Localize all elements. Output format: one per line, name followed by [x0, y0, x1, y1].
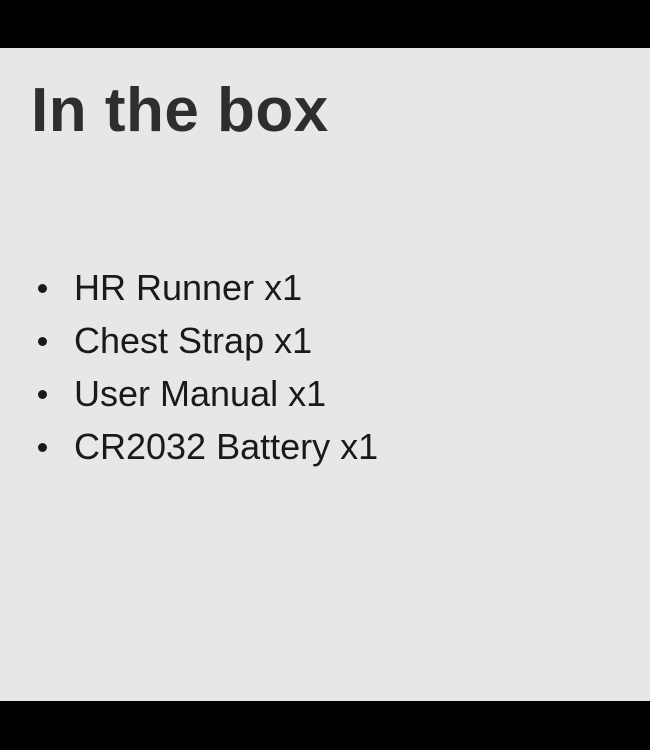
list-item: Chest Strap x1 — [0, 314, 378, 367]
bullet-point-icon — [38, 390, 47, 399]
slide-canvas: In the box HR Runner x1 Chest Strap x1 U… — [0, 0, 650, 750]
list-item: User Manual x1 — [0, 367, 378, 420]
bullet-point-icon — [38, 337, 47, 346]
list-item-label: Chest Strap x1 — [74, 314, 312, 367]
letterbox-bar-top — [0, 0, 650, 48]
list-item: CR2032 Battery x1 — [0, 420, 378, 473]
slide-content-area: In the box HR Runner x1 Chest Strap x1 U… — [0, 48, 650, 701]
in-the-box-list: HR Runner x1 Chest Strap x1 User Manual … — [0, 261, 378, 473]
list-item-label: CR2032 Battery x1 — [74, 420, 378, 473]
bullet-point-icon — [38, 284, 47, 293]
letterbox-bar-bottom — [0, 701, 650, 750]
list-item: HR Runner x1 — [0, 261, 378, 314]
list-item-label: HR Runner x1 — [74, 261, 302, 314]
bullet-point-icon — [38, 443, 47, 452]
page-title: In the box — [31, 78, 329, 145]
list-item-label: User Manual x1 — [74, 367, 326, 420]
